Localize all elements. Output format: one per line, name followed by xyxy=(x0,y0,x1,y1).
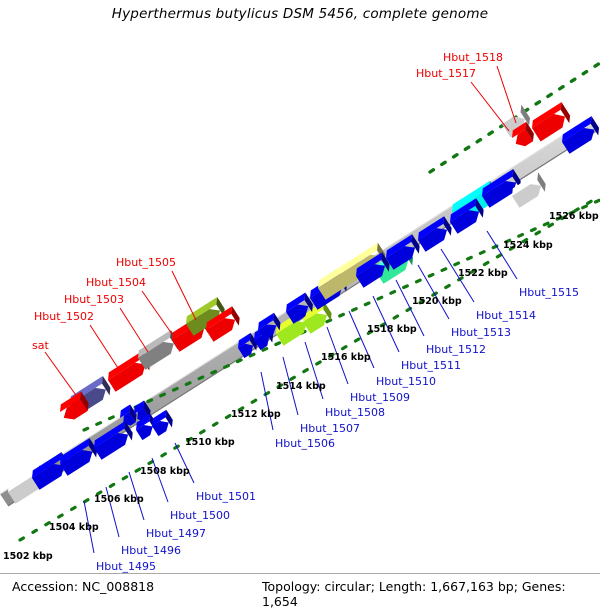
ruler-tick-label: 1522 kbp xyxy=(458,268,508,279)
gene-label-hbut_1513[interactable]: Hbut_1513 xyxy=(451,327,511,338)
ruler-tick-label: 1510 kbp xyxy=(185,437,235,448)
gene-label-hbut_1514[interactable]: Hbut_1514 xyxy=(476,310,536,321)
ruler-tick-label: 1520 kbp xyxy=(412,296,462,307)
gene-label-hbut_1515[interactable]: Hbut_1515 xyxy=(519,287,579,298)
gene-label-hbut_1518[interactable]: Hbut_1518 xyxy=(443,52,503,63)
leader-line xyxy=(45,352,78,398)
gene-label-hbut_1501[interactable]: Hbut_1501 xyxy=(196,491,256,502)
leader-line xyxy=(261,372,273,430)
genome-map-canvas: Hyperthermus butylicus DSM 5456, complet… xyxy=(0,0,600,600)
gene-label-hbut_1504[interactable]: Hbut_1504 xyxy=(86,277,146,288)
gene-label-hbut_1517[interactable]: Hbut_1517 xyxy=(416,68,476,79)
gene-label-hbut_1510[interactable]: Hbut_1510 xyxy=(376,376,436,387)
label-leader-lines xyxy=(45,66,517,553)
gene-label-hbut_1500[interactable]: Hbut_1500 xyxy=(170,510,230,521)
ruler-tick-label: 1502 kbp xyxy=(3,551,53,562)
gene-label-hbut_1506[interactable]: Hbut_1506 xyxy=(275,438,335,449)
ruler-tick-label: 1524 kbp xyxy=(503,240,553,251)
ruler-tick-label: 1526 kbp xyxy=(549,211,599,222)
leader-line xyxy=(175,443,194,483)
leader-line xyxy=(471,82,509,131)
gene-label-hbut_1509[interactable]: Hbut_1509 xyxy=(350,392,410,403)
leader-line xyxy=(172,271,196,320)
topology-text: Topology: circular; Length: 1,667,163 bp… xyxy=(262,579,600,609)
gene-label-hbut_1502[interactable]: Hbut_1502 xyxy=(34,311,94,322)
gene-label-hbut_1503[interactable]: Hbut_1503 xyxy=(64,294,124,305)
gene-label-hbut_1511[interactable]: Hbut_1511 xyxy=(401,360,461,371)
ruler-tick-label: 1504 kbp xyxy=(49,522,99,533)
status-bar: Accession: NC_008818 Topology: circular;… xyxy=(0,573,600,600)
gene-label-hbut_1505[interactable]: Hbut_1505 xyxy=(116,257,176,268)
ruler-tick-label: 1514 kbp xyxy=(276,381,326,392)
leader-line xyxy=(90,325,118,368)
gene-label-hbut_1512[interactable]: Hbut_1512 xyxy=(426,344,486,355)
gene-label-hbut_1495[interactable]: Hbut_1495 xyxy=(96,561,156,572)
leader-line xyxy=(120,308,148,352)
ruler-tick-label: 1518 kbp xyxy=(367,324,417,335)
gene-label-hbut_1496[interactable]: Hbut_1496 xyxy=(121,545,181,556)
ruler-tick-label: 1508 kbp xyxy=(140,466,190,477)
ruler-tick-label: 1516 kbp xyxy=(321,352,371,363)
gene-label-sat[interactable]: sat xyxy=(32,340,49,351)
ruler-tick-label: 1506 kbp xyxy=(94,494,144,505)
accession-text: Accession: NC_008818 xyxy=(12,579,154,594)
leader-line xyxy=(152,458,168,502)
leader-line xyxy=(142,291,172,334)
ruler-tick-label: 1512 kbp xyxy=(231,409,281,420)
gene-label-hbut_1507[interactable]: Hbut_1507 xyxy=(300,423,360,434)
gene-label-hbut_1508[interactable]: Hbut_1508 xyxy=(325,407,385,418)
gene-label-hbut_1497[interactable]: Hbut_1497 xyxy=(146,528,206,539)
